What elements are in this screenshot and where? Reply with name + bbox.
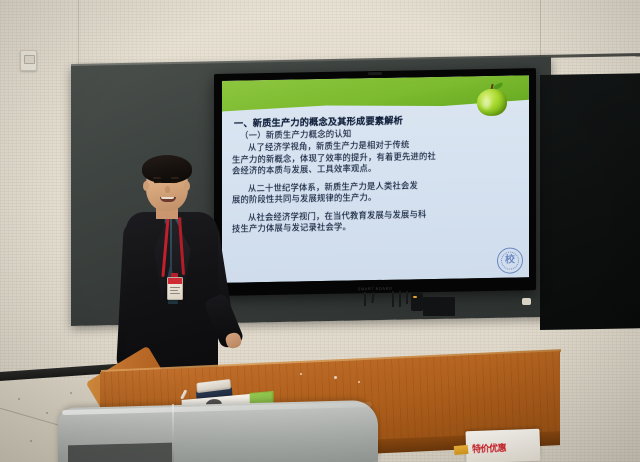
apple-highlight [482,98,491,109]
display-cable [399,291,401,307]
eyebrow-right [171,177,179,179]
eyebrow-left [153,177,161,179]
hair [142,155,192,183]
display-cable [406,291,408,304]
classroom-photo-scene: 一、新质生产力的概念及其形成要素解析 （一）新质生产力概念的认知 从了经济学视角… [0,0,640,462]
connector-led [413,296,417,298]
apple-body-icon [477,89,507,117]
wall-plate [522,298,531,305]
box-red-text: 特价优惠 [472,441,506,455]
display-brand-label: SMART BOARD [358,286,393,292]
badge-text-line [170,290,178,291]
teeth [161,197,174,199]
podium-panel-seam [172,404,174,462]
blackboard-right-panel [540,73,640,330]
badge-header-strip [168,278,182,284]
display-cable [392,291,394,307]
seal-glyph: 校 [505,255,515,265]
wall-outlet[interactable] [20,50,37,71]
id-badge [167,277,183,300]
white-red-box[interactable]: 特价优惠 [465,429,540,462]
display-control-box [423,297,455,316]
podium-shadow-recess [68,443,172,462]
nose [165,186,170,193]
green-apple-icon [477,84,507,117]
display-cable [364,292,366,306]
box-yellow-tab [454,445,469,455]
display-camera-bar [368,72,382,75]
badge-text-line [170,287,180,288]
ear-right [184,181,190,191]
badge-text-line [170,293,180,294]
ear-left [143,181,149,191]
